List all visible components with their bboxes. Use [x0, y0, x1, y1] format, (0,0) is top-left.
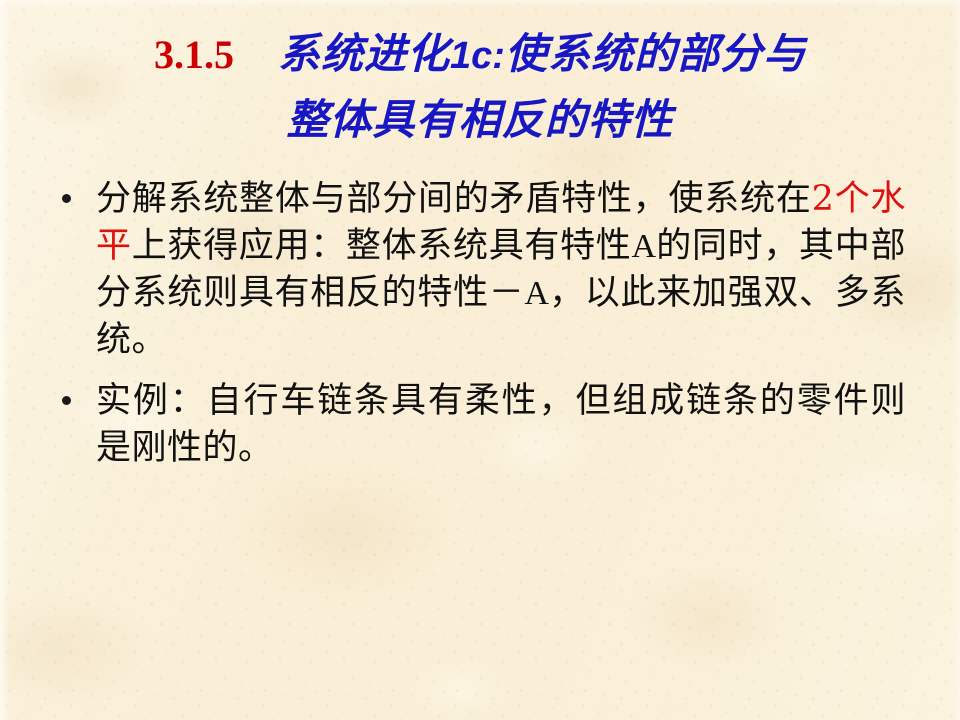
- list-item: 分解系统整体与部分间的矛盾特性，使系统在2个水平上获得应用：整体系统具有特性A的…: [56, 176, 906, 364]
- title-heading-latin: 1c:: [450, 35, 505, 77]
- section-number: 3.1.5: [154, 32, 234, 77]
- bullet2-segment-1: 实例：自行车链条具有柔性，但组成链条的零件则是刚性的。: [96, 381, 906, 468]
- bullet1-segment-2: 上获得应用：整体系统具有特性: [132, 226, 632, 266]
- bullet1-segment-1: 分解系统整体与部分间的矛盾特性，使系统在: [96, 179, 812, 219]
- slide-content: 3.1.5系统进化1c:使系统的部分与 整体具有相反的特性 分解系统整体与部分间…: [0, 0, 960, 720]
- bullet1-latin-1: A: [632, 228, 657, 265]
- bullet1-latin-2: A: [524, 275, 549, 312]
- title-heading-part2: 使系统的部分与: [505, 29, 806, 78]
- title-heading-part1: 系统进化: [278, 29, 450, 78]
- slide-canvas: 3.1.5系统进化1c:使系统的部分与 整体具有相反的特性 分解系统整体与部分间…: [0, 0, 960, 720]
- bullet-text-1: 分解系统整体与部分间的矛盾特性，使系统在2个水平上获得应用：整体系统具有特性A的…: [96, 176, 906, 364]
- bullet-text-2: 实例：自行车链条具有柔性，但组成链条的零件则是刚性的。: [96, 378, 906, 472]
- title-line-1: 3.1.5系统进化1c:使系统的部分与: [0, 26, 960, 92]
- bullet-dot-icon: [62, 194, 71, 203]
- list-item: 实例：自行车链条具有柔性，但组成链条的零件则是刚性的。: [56, 378, 906, 472]
- bullet-dot-icon: [62, 396, 71, 405]
- bullet-list: 分解系统整体与部分间的矛盾特性，使系统在2个水平上获得应用：整体系统具有特性A的…: [56, 176, 906, 486]
- title-heading-line2: 整体具有相反的特性: [286, 95, 673, 144]
- title-line-2: 整体具有相反的特性: [0, 92, 960, 158]
- slide-title: 3.1.5系统进化1c:使系统的部分与 整体具有相反的特性: [0, 26, 960, 158]
